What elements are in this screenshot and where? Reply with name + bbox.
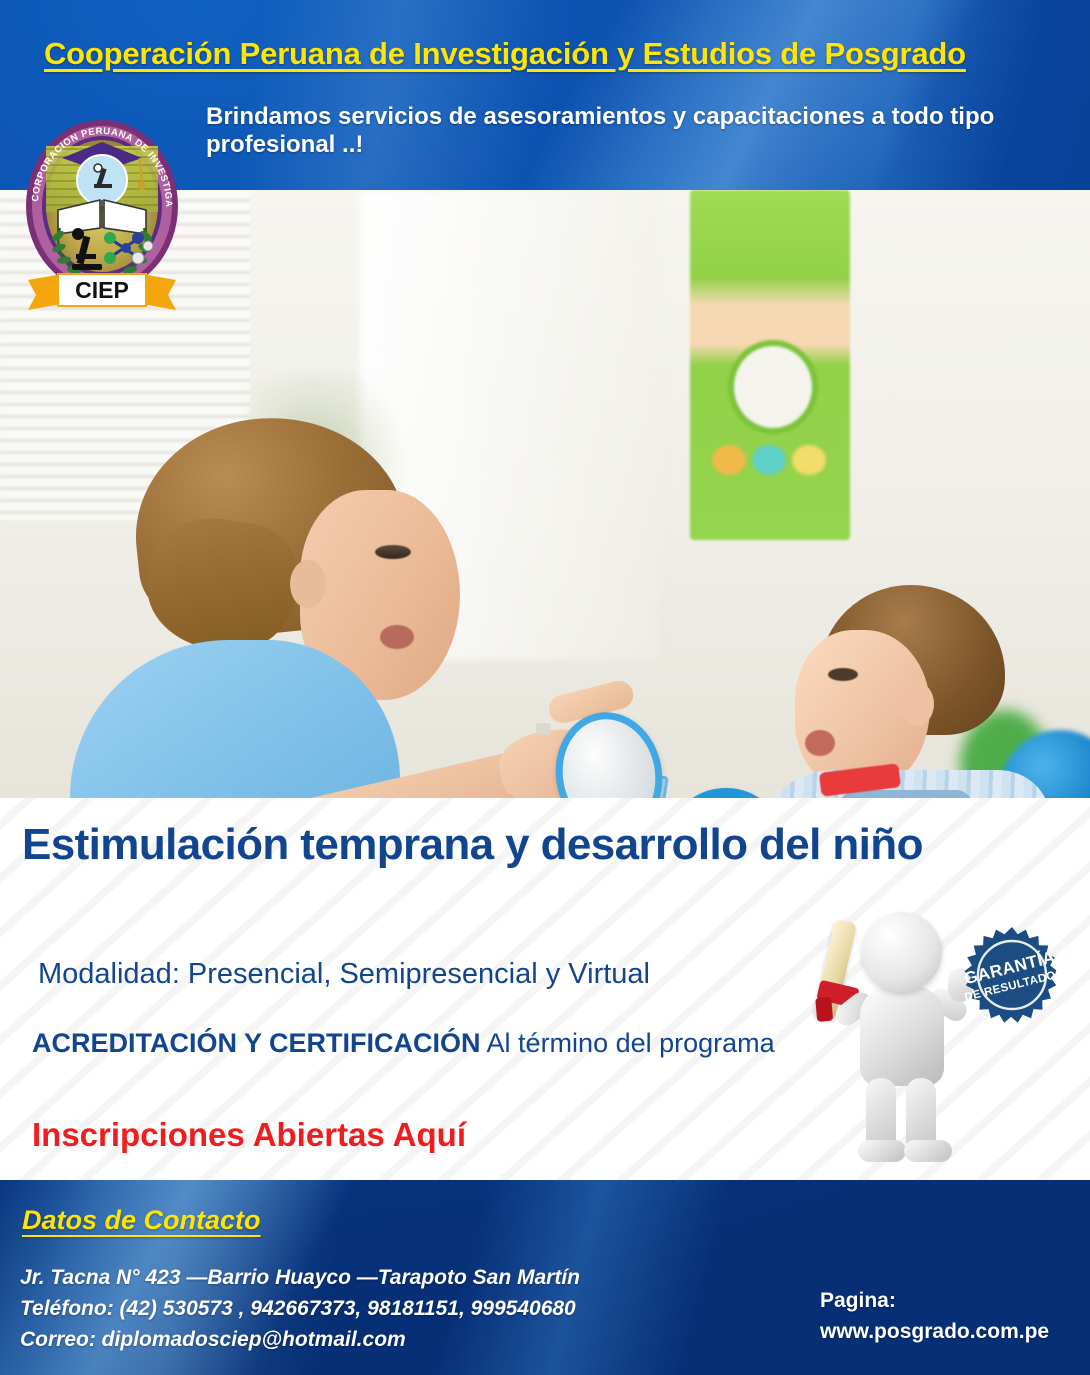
contact-details: Jr. Tacna N° 423 —Barrio Huayco —Tarapot… [20,1262,780,1355]
accreditation-detail: Al término del programa [481,1028,775,1058]
mascot-right-foot [904,1140,952,1162]
photo-boy-eye [828,668,858,681]
photo-boy-ear [900,682,934,726]
ciep-logo: CORPORACION PERUANA DE INVESTIGACION Y E… [14,88,190,313]
website-label: Pagina: [820,1285,1070,1316]
header-tagline: Brindamos servicios de asesoramientos y … [206,103,1066,160]
accreditation-line: ACREDITACIÓN Y CERTIFICACIÓN Al término … [32,1026,792,1061]
footer-contact: Datos de Contacto Jr. Tacna N° 423 —Barr… [0,1180,1090,1375]
photo-woman-eye [375,545,411,559]
organization-title: Cooperación Peruana de Investigación y E… [44,36,1064,72]
photo-woman-ear [290,560,326,608]
logo-banner-text: CIEP [75,277,129,303]
contact-heading: Datos de Contacto [22,1205,261,1236]
course-title: Estimulación temprana y desarrollo del n… [22,820,962,869]
website-url[interactable]: www.posgrado.com.pe [820,1316,1070,1347]
content-panel: Estimulación temprana y desarrollo del n… [0,798,1090,1180]
photo-boy-mouth [805,730,835,756]
mascot-left-foot [858,1140,906,1162]
mascot-body [860,986,944,1086]
photo-mesh-balls [712,445,832,485]
contact-email[interactable]: Correo: diplomadosciep@hotmail.com [20,1324,780,1355]
flyer-poster: Cooperación Peruana de Investigación y E… [0,0,1090,1375]
website-block: Pagina: www.posgrado.com.pe [820,1285,1070,1347]
contact-address: Jr. Tacna N° 423 —Barrio Huayco —Tarapot… [20,1262,780,1293]
photo-woman-ring [536,723,551,735]
ciep-banner: CIEP [28,274,176,310]
modality-line: Modalidad: Presencial, Semipresencial y … [38,958,798,991]
enrollment-cta[interactable]: Inscripciones Abiertas Aquí [32,1116,792,1154]
guarantee-seal-badge: GARANTÍA DE RESULTADOS [952,925,1072,1045]
mascot-head [862,912,942,992]
photo-woman-mouth [380,625,414,649]
accreditation-label: ACREDITACIÓN Y CERTIFICACIÓN [32,1028,481,1058]
photo-mesh-hole [728,340,818,434]
contact-phone: Teléfono: (42) 530573 , 942667373, 98181… [20,1293,780,1324]
